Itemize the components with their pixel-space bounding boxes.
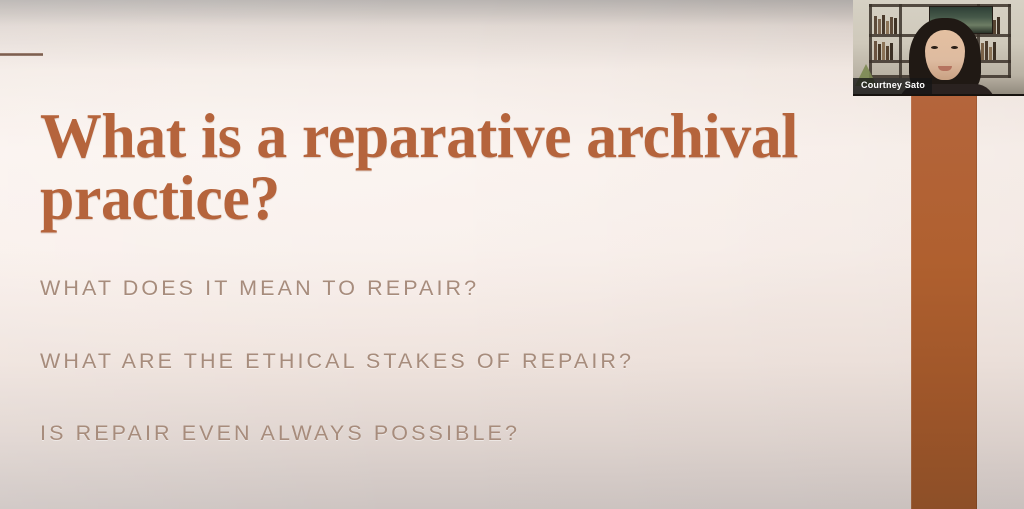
slide-question-list: WHAT DOES IT MEAN TO REPAIR? WHAT ARE TH… bbox=[40, 278, 840, 445]
speaker-eye-right bbox=[951, 46, 958, 49]
slide-question-3: IS REPAIR EVEN ALWAYS POSSIBLE? bbox=[40, 423, 840, 445]
slide-question-2: WHAT ARE THE ETHICAL STAKES OF REPAIR? bbox=[40, 351, 840, 373]
accent-rule-decoration bbox=[0, 53, 43, 56]
participant-name-badge: Courtney Sato bbox=[853, 78, 932, 94]
speaker-face bbox=[925, 30, 965, 80]
slide-title: What is a reparative archival practice? bbox=[40, 105, 824, 230]
webcam-video-tile[interactable]: Courtney Sato bbox=[853, 0, 1024, 96]
side-bar-decoration bbox=[911, 95, 977, 509]
slide-title-line-2: practice? bbox=[40, 167, 824, 229]
slide-question-1: WHAT DOES IT MEAN TO REPAIR? bbox=[40, 278, 840, 300]
webcam-bottom-edge bbox=[853, 94, 1024, 96]
speaker-eye-left bbox=[931, 46, 938, 49]
presentation-screen: What is a reparative archival practice? … bbox=[0, 0, 1024, 509]
slide-title-line-1: What is a reparative archival bbox=[40, 105, 824, 167]
